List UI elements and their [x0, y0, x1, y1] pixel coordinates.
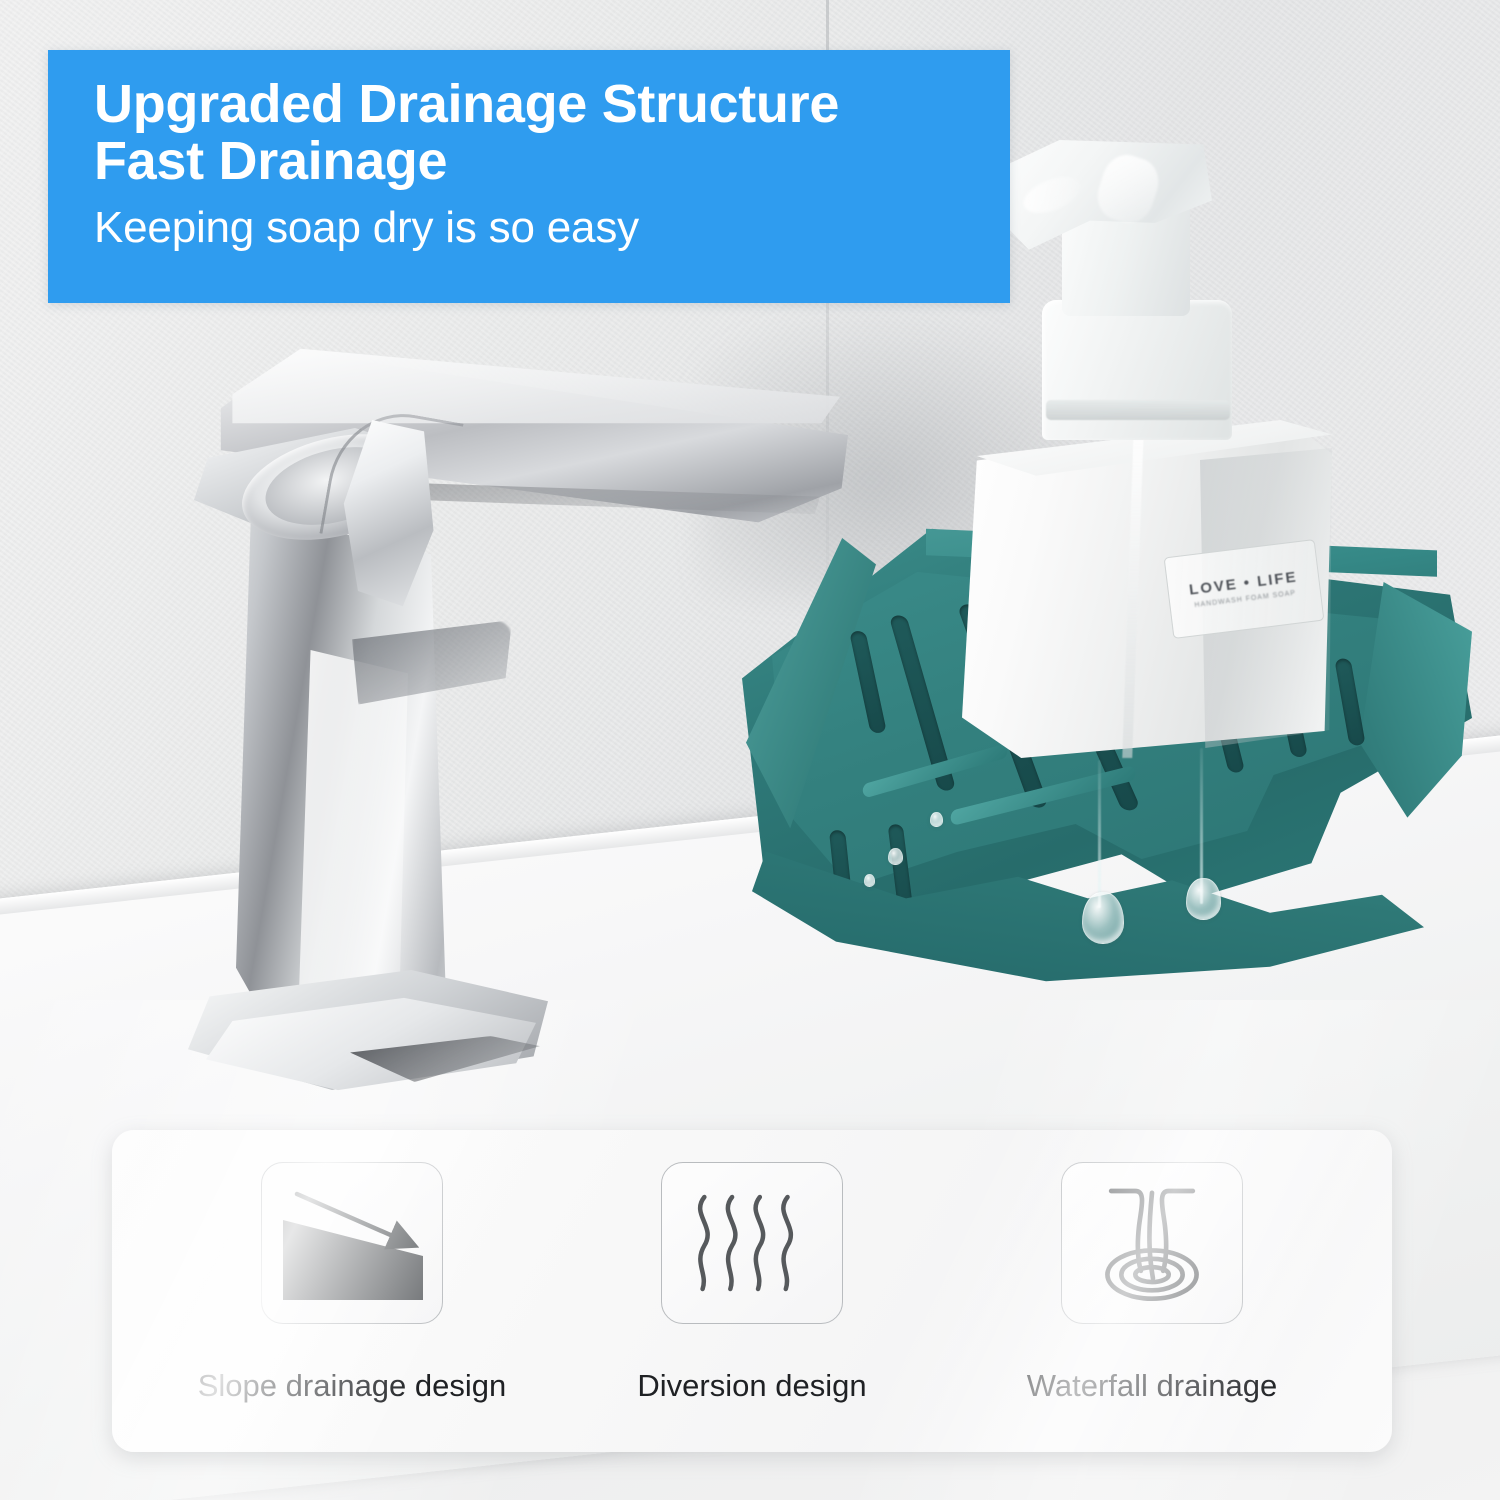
water-droplet [930, 812, 943, 827]
headline-banner: Upgraded Drainage Structure Fast Drainag… [48, 50, 1010, 303]
feature-panel: Slope drainage design Diversion design [112, 1130, 1392, 1452]
feature-waterfall-drainage[interactable]: Waterfall drainage [987, 1162, 1317, 1404]
foam-soap-dispenser: LOVE • LIFE HANDWASH FOAM SOAP [950, 128, 1350, 758]
slope-drainage-icon [277, 1178, 427, 1308]
feature-list: Slope drainage design Diversion design [112, 1130, 1392, 1452]
product-marketing-image: LOVE • LIFE HANDWASH FOAM SOAP Upgraded … [0, 0, 1500, 1500]
water-droplet [1082, 892, 1124, 944]
feature-caption: Waterfall drainage [1027, 1368, 1277, 1404]
feature-icon-tile [1061, 1162, 1243, 1324]
feature-caption: Slope drainage design [198, 1368, 507, 1404]
slope-arrow-icon [293, 1188, 425, 1258]
banner-title-line-2: Fast Drainage [94, 131, 447, 191]
water-droplet [1186, 878, 1221, 920]
feature-slope-drainage[interactable]: Slope drainage design [187, 1162, 517, 1404]
banner-subtitle: Keeping soap dry is so easy [94, 204, 1010, 252]
diversion-waves-icon [687, 1178, 817, 1308]
waterfall-drainage-icon [1087, 1178, 1217, 1308]
feature-icon-tile [261, 1162, 443, 1324]
banner-title-line-1: Upgraded Drainage Structure [94, 74, 839, 134]
water-droplet [864, 874, 875, 887]
dispenser-collar-ring [1046, 400, 1230, 420]
water-droplet [888, 848, 903, 865]
water-trickle [1098, 760, 1101, 908]
feature-icon-tile [661, 1162, 843, 1324]
feature-diversion-design[interactable]: Diversion design [587, 1162, 917, 1404]
banner-title: Upgraded Drainage Structure Fast Drainag… [94, 76, 1010, 190]
feature-caption: Diversion design [637, 1368, 866, 1404]
